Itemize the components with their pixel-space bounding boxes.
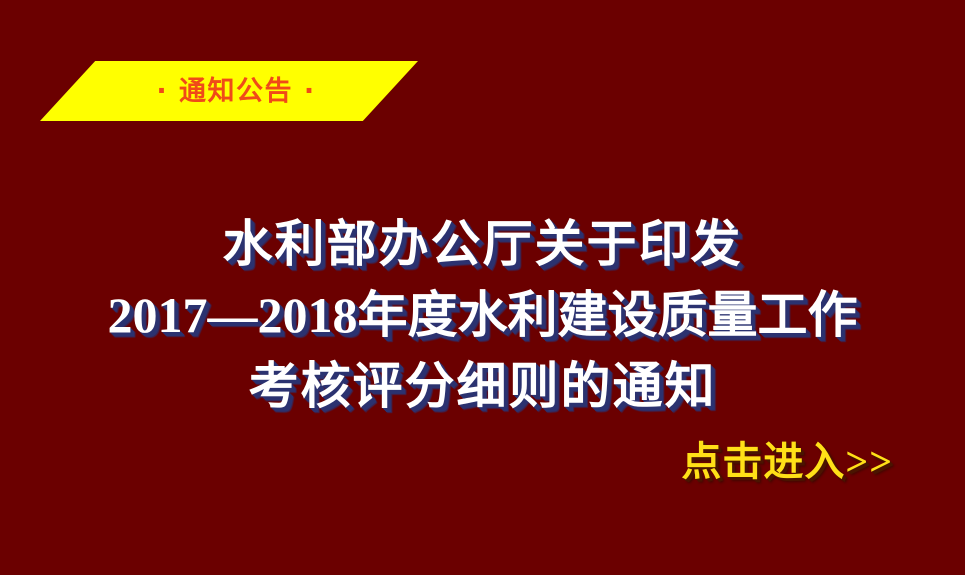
announcement-title: 水利部办公厅关于印发 2017—2018年度水利建设质量工作 考核评分细则的通知	[0, 209, 965, 422]
title-line-1: 水利部办公厅关于印发	[0, 209, 965, 280]
title-line-2: 2017—2018年度水利建设质量工作	[0, 280, 965, 351]
notice-category-banner: · 通知公告 ·	[40, 61, 418, 121]
enter-link[interactable]: 点击进入>>	[681, 438, 893, 486]
banner-label: · 通知公告 ·	[40, 61, 418, 121]
title-line-3: 考核评分细则的通知	[0, 351, 965, 422]
announcement-banner-page: · 通知公告 · 水利部办公厅关于印发 2017—2018年度水利建设质量工作 …	[0, 0, 965, 575]
